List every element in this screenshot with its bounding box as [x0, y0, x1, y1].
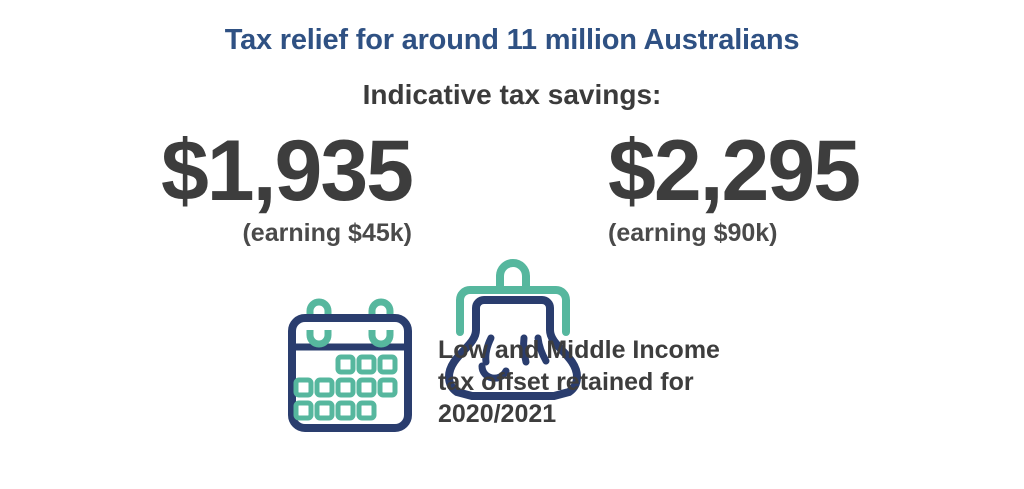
infographic-root: Tax relief for around 11 million Austral… [0, 0, 1024, 489]
savings-block-right: $2,295 (earning $90k) [608, 128, 928, 248]
savings-qualifier-left: (earning $45k) [92, 220, 412, 248]
savings-qualifier-right: (earning $90k) [608, 220, 928, 248]
offset-text-block: Low and Middle Income tax offset retaine… [438, 334, 720, 430]
subtitle: Indicative tax savings: [0, 79, 1024, 111]
offset-row: Low and Middle Income tax offset retaine… [282, 296, 802, 446]
offset-text-line-1: Low and Middle Income [438, 334, 720, 366]
savings-block-left: $1,935 (earning $45k) [92, 128, 412, 248]
offset-text-line-2: tax offset retained for [438, 366, 720, 398]
savings-amount-left: $1,935 [92, 128, 412, 214]
offset-text-line-3: 2020/2021 [438, 398, 720, 430]
savings-amount-right: $2,295 [608, 128, 928, 214]
savings-row: $1,935 (earning $45k) [0, 128, 1024, 288]
page-title: Tax relief for around 11 million Austral… [0, 24, 1024, 57]
calendar-icon [282, 296, 418, 436]
